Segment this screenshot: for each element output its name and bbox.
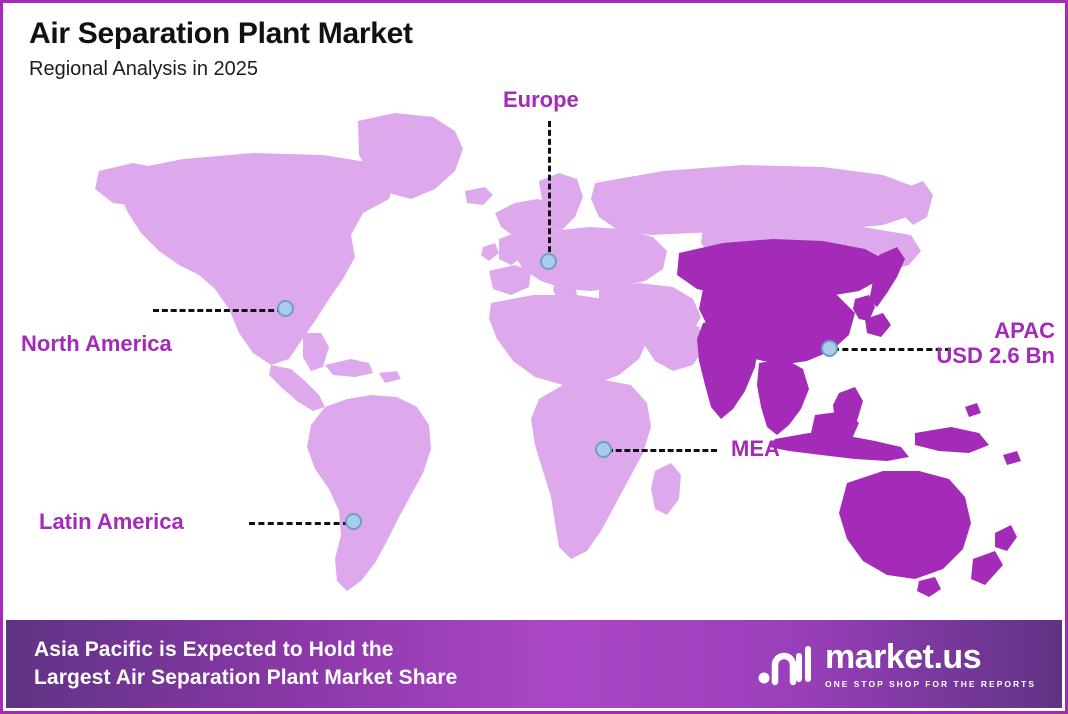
leader-line-europe <box>548 121 551 261</box>
map-marker-europe <box>540 253 557 270</box>
region-russia-north <box>591 165 921 235</box>
leader-line-north-america <box>153 309 283 312</box>
region-value-apac: USD 2.6 Bn <box>919 343 1055 368</box>
region-label-europe-text: Europe <box>503 87 579 112</box>
footer-headline-line1: Asia Pacific is Expected to Hold the <box>34 636 457 664</box>
page-subtitle: Regional Analysis in 2025 <box>29 58 413 81</box>
region-label-north-america: North America <box>21 331 172 356</box>
footer-headline: Asia Pacific is Expected to Hold the Lar… <box>34 636 457 693</box>
header: Air Separation Plant Market Regional Ana… <box>29 17 413 81</box>
logo-wordmark: market.us <box>825 640 981 674</box>
page-title: Air Separation Plant Market <box>29 17 413 50</box>
region-label-latin-america-text: Latin America <box>39 509 184 534</box>
map-marker-north-america <box>277 300 294 317</box>
region-label-apac: APAC USD 2.6 Bn <box>919 318 1055 369</box>
logo-tagline: ONE STOP SHOP FOR THE REPORTS <box>825 679 1036 689</box>
infographic-root: Air Separation Plant Market Regional Ana… <box>0 0 1068 714</box>
region-label-europe: Europe <box>503 87 579 112</box>
region-label-latin-america: Latin America <box>39 509 184 534</box>
footer-banner: Asia Pacific is Expected to Hold the Lar… <box>6 620 1062 708</box>
leader-line-latin-america <box>249 522 349 525</box>
map-marker-apac <box>821 340 838 357</box>
region-label-north-america-text: North America <box>21 331 172 356</box>
market-us-logo: market.us ONE STOP SHOP FOR THE REPORTS <box>757 640 1036 689</box>
map-marker-mea <box>595 441 612 458</box>
market-us-logo-mark <box>757 641 813 687</box>
region-label-apac-text: APAC <box>994 318 1055 343</box>
market-us-logo-text: market.us ONE STOP SHOP FOR THE REPORTS <box>825 640 1036 689</box>
region-label-mea: MEA <box>731 436 780 461</box>
region-label-mea-text: MEA <box>731 436 780 461</box>
map-marker-latin-america <box>345 513 362 530</box>
footer-headline-line2: Largest Air Separation Plant Market Shar… <box>34 664 457 692</box>
leader-line-mea <box>607 449 717 452</box>
